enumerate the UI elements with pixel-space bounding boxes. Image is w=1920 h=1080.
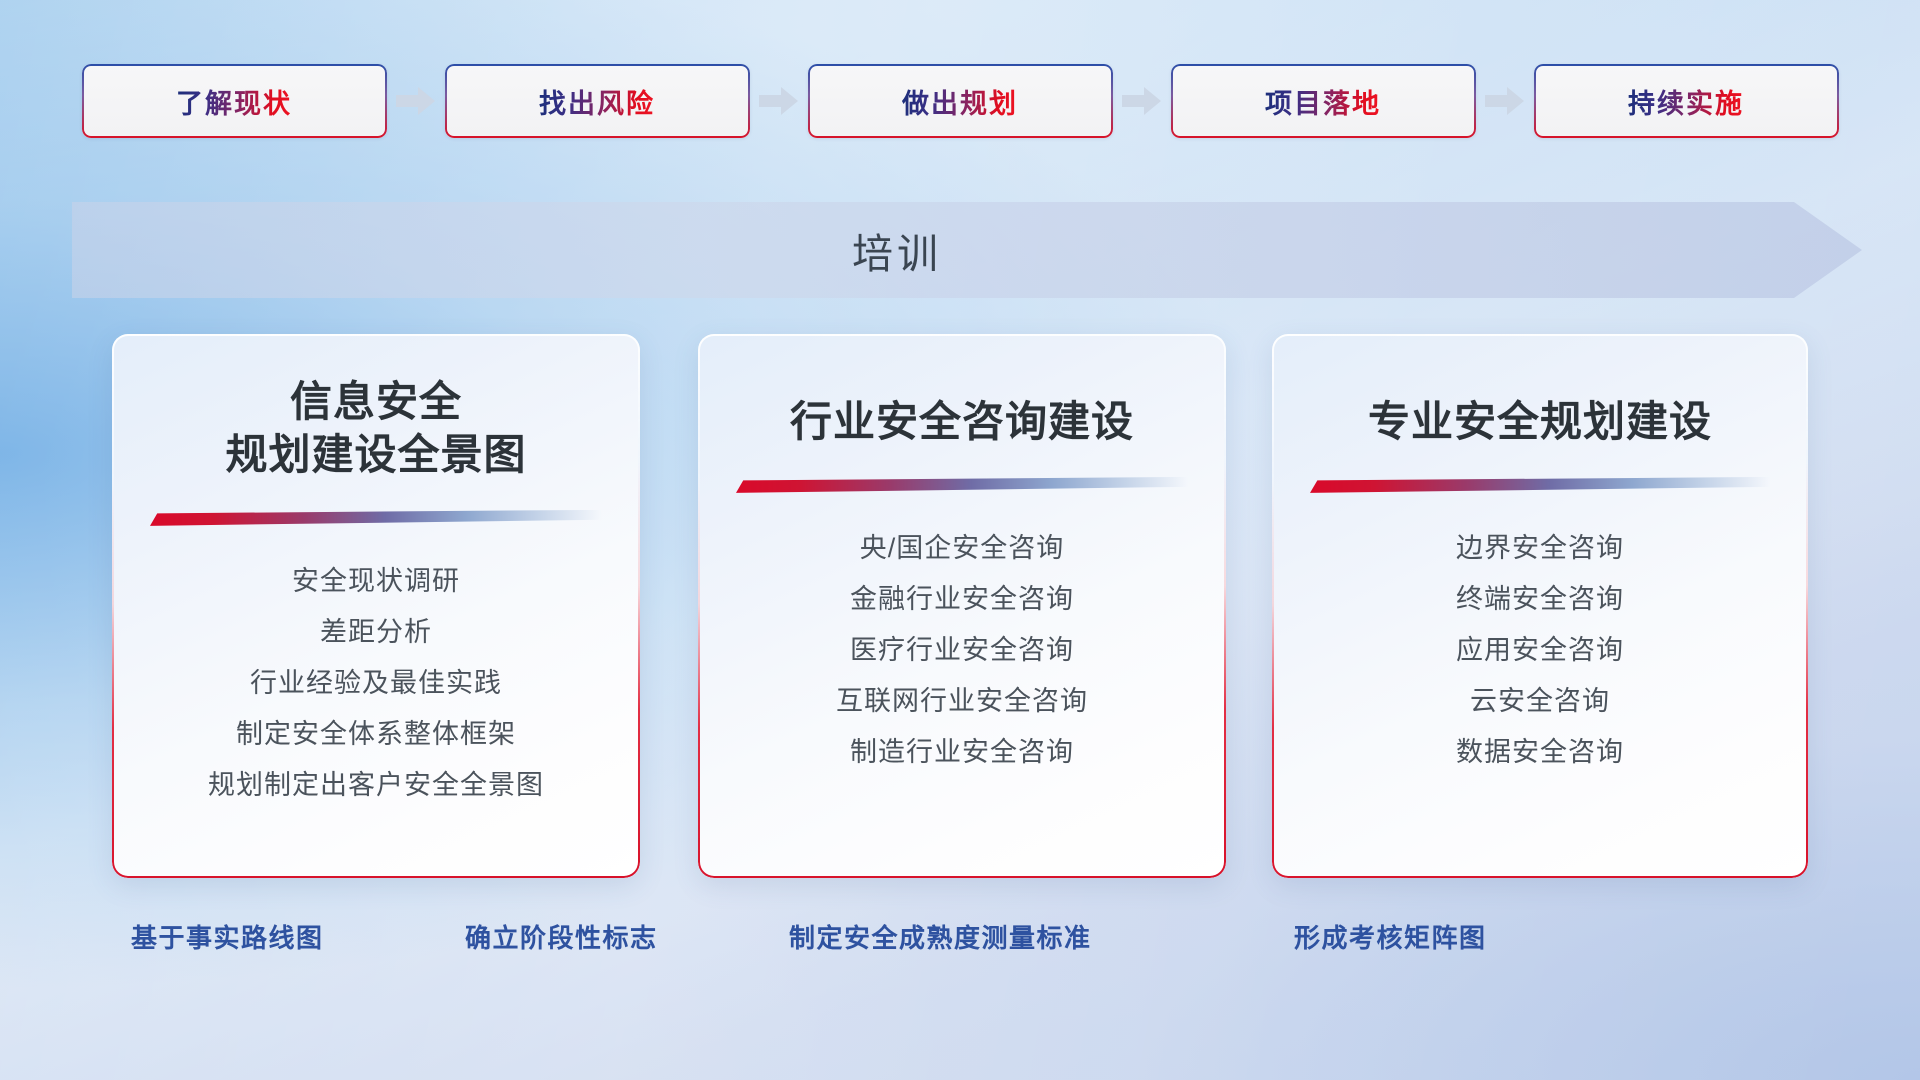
card-industry-security-consulting[interactable]: 行业安全咨询建设 央/国企安全咨询 金融行业安全咨询 医疗行业安全咨询 互联网行… bbox=[698, 334, 1226, 878]
outcome-label-2: 确立阶段性标志 bbox=[465, 918, 658, 955]
list-item: 行业经验及最佳实践 bbox=[250, 658, 502, 709]
card-list-3: 边界安全咨询 终端安全咨询 应用安全咨询 云安全咨询 数据安全咨询 bbox=[1456, 523, 1624, 778]
card-title-1-line1: 信息安全 bbox=[225, 376, 526, 429]
list-item: 差距分析 bbox=[320, 607, 432, 658]
list-item: 制造行业安全咨询 bbox=[850, 727, 1074, 778]
card-divider-1-shape bbox=[150, 510, 602, 526]
card-divider-3-shape bbox=[1310, 477, 1770, 493]
training-banner-label: 培训 bbox=[72, 202, 1722, 298]
card-divider-3 bbox=[1310, 477, 1770, 493]
step-label-2: 找出风险 bbox=[539, 82, 655, 121]
card-title-3: 专业安全规划建设 bbox=[1368, 396, 1712, 449]
card-professional-security-planning[interactable]: 专业安全规划建设 边界安全咨询 终端安全咨询 应用安全咨询 云安全咨询 数据安全… bbox=[1272, 334, 1808, 878]
outcome-label-row: 基于事实路线图 确立阶段性标志 制定安全成熟度测量标准 形成考核矩阵图 bbox=[0, 918, 1920, 970]
step-box-1[interactable]: 了解现状 bbox=[82, 64, 387, 138]
card-title-1-line2: 规划建设全景图 bbox=[225, 429, 526, 482]
step-box-4[interactable]: 项目落地 bbox=[1171, 64, 1476, 138]
list-item: 云安全咨询 bbox=[1470, 676, 1610, 727]
step-arrow-icon-1 bbox=[387, 64, 445, 138]
step-label-4: 项目落地 bbox=[1265, 82, 1381, 121]
list-item: 规划制定出客户安全全景图 bbox=[208, 760, 544, 811]
outcome-label-4: 形成考核矩阵图 bbox=[1294, 918, 1487, 955]
step-label-3: 做出规划 bbox=[902, 82, 1018, 121]
list-item: 应用安全咨询 bbox=[1456, 625, 1624, 676]
card-title-1: 信息安全 规划建设全景图 bbox=[225, 376, 526, 482]
list-item: 互联网行业安全咨询 bbox=[836, 676, 1088, 727]
card-list-1: 安全现状调研 差距分析 行业经验及最佳实践 制定安全体系整体框架 规划制定出客户… bbox=[208, 556, 544, 811]
step-box-3[interactable]: 做出规划 bbox=[808, 64, 1113, 138]
card-divider-1 bbox=[150, 510, 602, 526]
process-step-flow: 了解现状 找出风险 做出规划 项目落地 持续实施 bbox=[0, 64, 1920, 138]
card-list-2: 央/国企安全咨询 金融行业安全咨询 医疗行业安全咨询 互联网行业安全咨询 制造行… bbox=[836, 523, 1088, 778]
list-item: 安全现状调研 bbox=[292, 556, 460, 607]
outcome-label-1: 基于事实路线图 bbox=[131, 918, 324, 955]
card-divider-2 bbox=[736, 477, 1188, 493]
card-divider-2-shape bbox=[736, 477, 1188, 493]
list-item: 终端安全咨询 bbox=[1456, 574, 1624, 625]
card-information-security[interactable]: 信息安全 规划建设全景图 安全现状调研 差距分析 行业经验及最佳实践 制定安全体… bbox=[112, 334, 640, 878]
step-arrow-icon-2 bbox=[750, 64, 808, 138]
list-item: 医疗行业安全咨询 bbox=[850, 625, 1074, 676]
step-label-1: 了解现状 bbox=[176, 82, 292, 121]
list-item: 央/国企安全咨询 bbox=[860, 523, 1065, 574]
card-title-2-line1: 行业安全咨询建设 bbox=[790, 396, 1134, 449]
training-banner: 培训 bbox=[72, 202, 1862, 298]
list-item: 边界安全咨询 bbox=[1456, 523, 1624, 574]
card-group: 信息安全 规划建设全景图 安全现状调研 差距分析 行业经验及最佳实践 制定安全体… bbox=[0, 334, 1920, 894]
step-arrow-icon-4 bbox=[1476, 64, 1534, 138]
list-item: 数据安全咨询 bbox=[1456, 727, 1624, 778]
step-box-2[interactable]: 找出风险 bbox=[445, 64, 750, 138]
outcome-label-3: 制定安全成熟度测量标准 bbox=[789, 918, 1092, 955]
card-title-3-line1: 专业安全规划建设 bbox=[1368, 396, 1712, 449]
list-item: 制定安全体系整体框架 bbox=[236, 709, 516, 760]
step-box-5[interactable]: 持续实施 bbox=[1534, 64, 1839, 138]
card-title-2: 行业安全咨询建设 bbox=[790, 396, 1134, 449]
step-arrow-icon-3 bbox=[1113, 64, 1171, 138]
step-label-5: 持续实施 bbox=[1628, 82, 1744, 121]
list-item: 金融行业安全咨询 bbox=[850, 574, 1074, 625]
